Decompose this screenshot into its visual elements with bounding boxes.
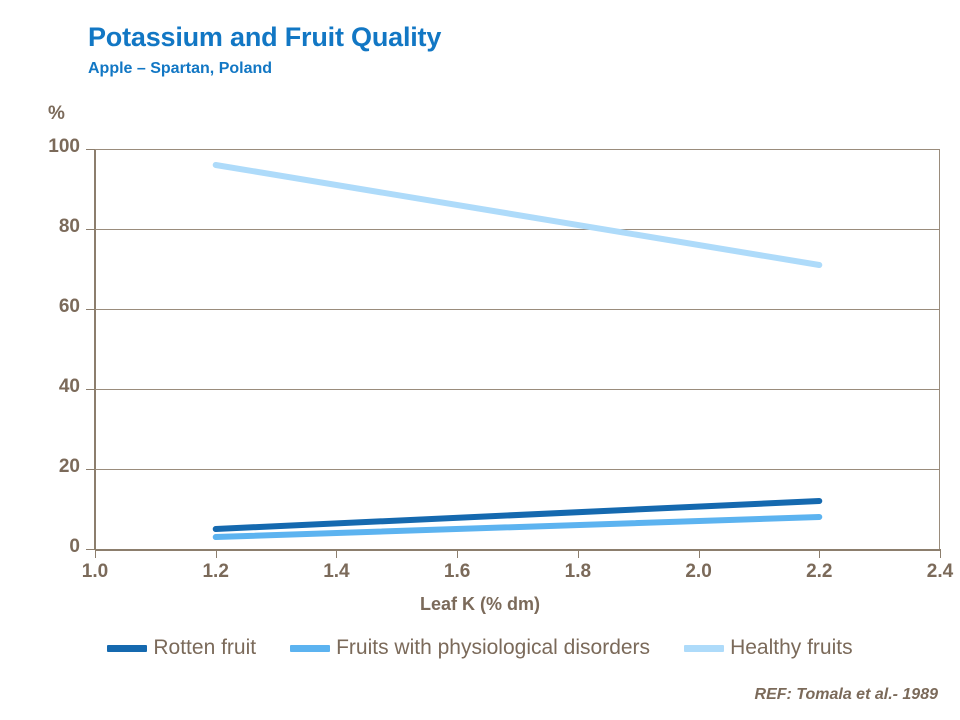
- y-axis-tick-label: 0: [69, 536, 80, 558]
- legend-label: Healthy fruits: [730, 636, 853, 660]
- x-axis-tick-label: 1.4: [323, 561, 349, 583]
- chart-container: Potassium and Fruit Quality Apple – Spar…: [0, 0, 960, 720]
- legend-item[interactable]: Healthy fruits: [684, 636, 853, 660]
- y-axis-tick: [86, 389, 95, 390]
- y-axis-tick: [86, 149, 95, 150]
- y-axis-unit-label: %: [48, 103, 65, 125]
- plot-area: [95, 149, 940, 549]
- legend-item[interactable]: Rotten fruit: [107, 636, 256, 660]
- gridline: [95, 549, 940, 551]
- chart-legend: Rotten fruitFruits with physiological di…: [0, 636, 960, 660]
- y-axis-tick-label: 100: [48, 136, 80, 158]
- y-axis-tick: [86, 549, 95, 550]
- legend-label: Fruits with physiological disorders: [336, 636, 650, 660]
- reference-note: REF: Tomala et al.- 1989: [755, 686, 938, 704]
- y-axis-tick: [86, 469, 95, 470]
- x-axis-tick-label: 2.4: [927, 561, 953, 583]
- legend-item[interactable]: Fruits with physiological disorders: [290, 636, 650, 660]
- chart-subtitle: Apple – Spartan, Poland: [88, 60, 272, 78]
- x-axis-tick-label: 1.2: [202, 561, 228, 583]
- y-axis-tick: [86, 309, 95, 310]
- y-axis-tick-label: 60: [59, 296, 80, 318]
- x-axis-title: Leaf K (% dm): [0, 594, 960, 615]
- y-axis-tick-label: 40: [59, 376, 80, 398]
- x-axis-tick-label: 2.0: [685, 561, 711, 583]
- legend-swatch-icon: [684, 645, 724, 652]
- x-axis-tick-label: 1.6: [444, 561, 470, 583]
- x-axis-tick-label: 1.8: [565, 561, 591, 583]
- y-axis-tick-label: 80: [59, 216, 80, 238]
- x-axis-tick-label: 1.0: [82, 561, 108, 583]
- legend-swatch-icon: [107, 645, 147, 652]
- series-line: [216, 165, 820, 265]
- x-axis-tick-label: 2.2: [806, 561, 832, 583]
- legend-label: Rotten fruit: [153, 636, 256, 660]
- x-axis-tick: [940, 549, 941, 558]
- chart-title: Potassium and Fruit Quality: [88, 22, 441, 53]
- y-axis-tick: [86, 229, 95, 230]
- series-lines: [95, 149, 940, 549]
- y-axis-tick-label: 20: [59, 456, 80, 478]
- legend-swatch-icon: [290, 645, 330, 652]
